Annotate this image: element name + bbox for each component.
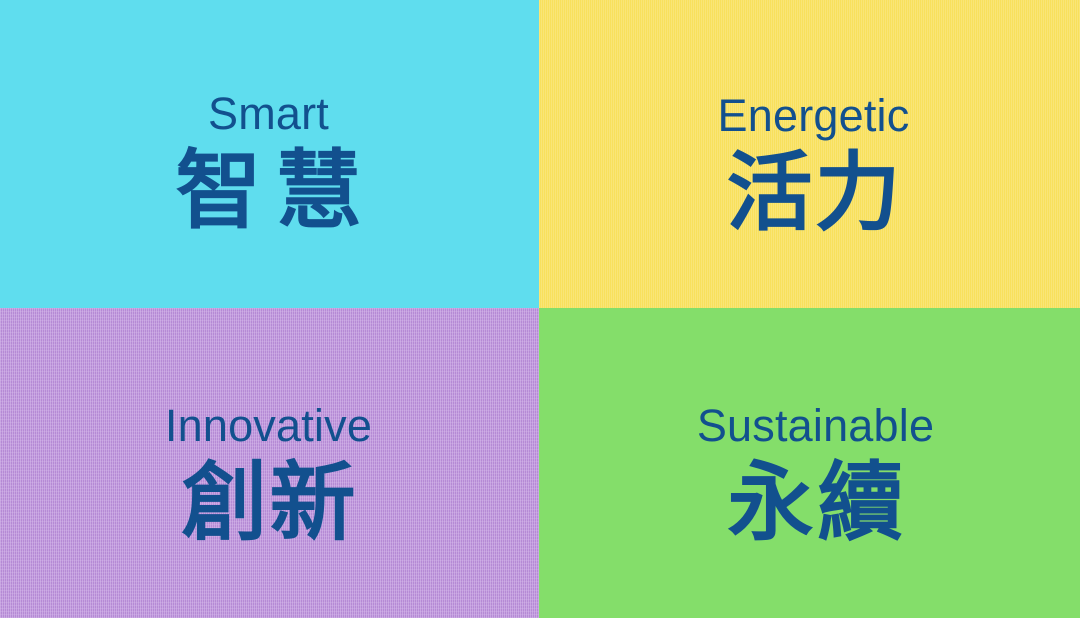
label-en-sustainable: Sustainable [697, 403, 934, 448]
quadrant-smart: Smart 智慧 [0, 0, 539, 308]
quadrant-energetic: Energetic 活力 [539, 0, 1080, 308]
label-stack-sustainable: Sustainable 永續 [697, 403, 934, 550]
label-stack-energetic: Energetic 活力 [718, 93, 910, 240]
label-zh-sustainable: 永續 [724, 457, 908, 550]
label-zh-innovative: 創新 [179, 457, 357, 550]
brand-values-grid: Smart 智慧 Energetic 活力 Innovative 創新 Sust… [0, 0, 1080, 618]
label-en-energetic: Energetic [718, 93, 910, 138]
label-stack-smart: Smart 智慧 [162, 91, 376, 238]
quadrant-sustainable: Sustainable 永續 [539, 308, 1080, 618]
label-zh-smart: 智慧 [162, 145, 376, 238]
quadrant-innovative: Innovative 創新 [0, 308, 539, 618]
label-en-innovative: Innovative [165, 403, 372, 448]
label-stack-innovative: Innovative 創新 [165, 403, 372, 550]
label-en-smart: Smart [208, 91, 329, 136]
label-zh-energetic: 活力 [724, 147, 902, 240]
